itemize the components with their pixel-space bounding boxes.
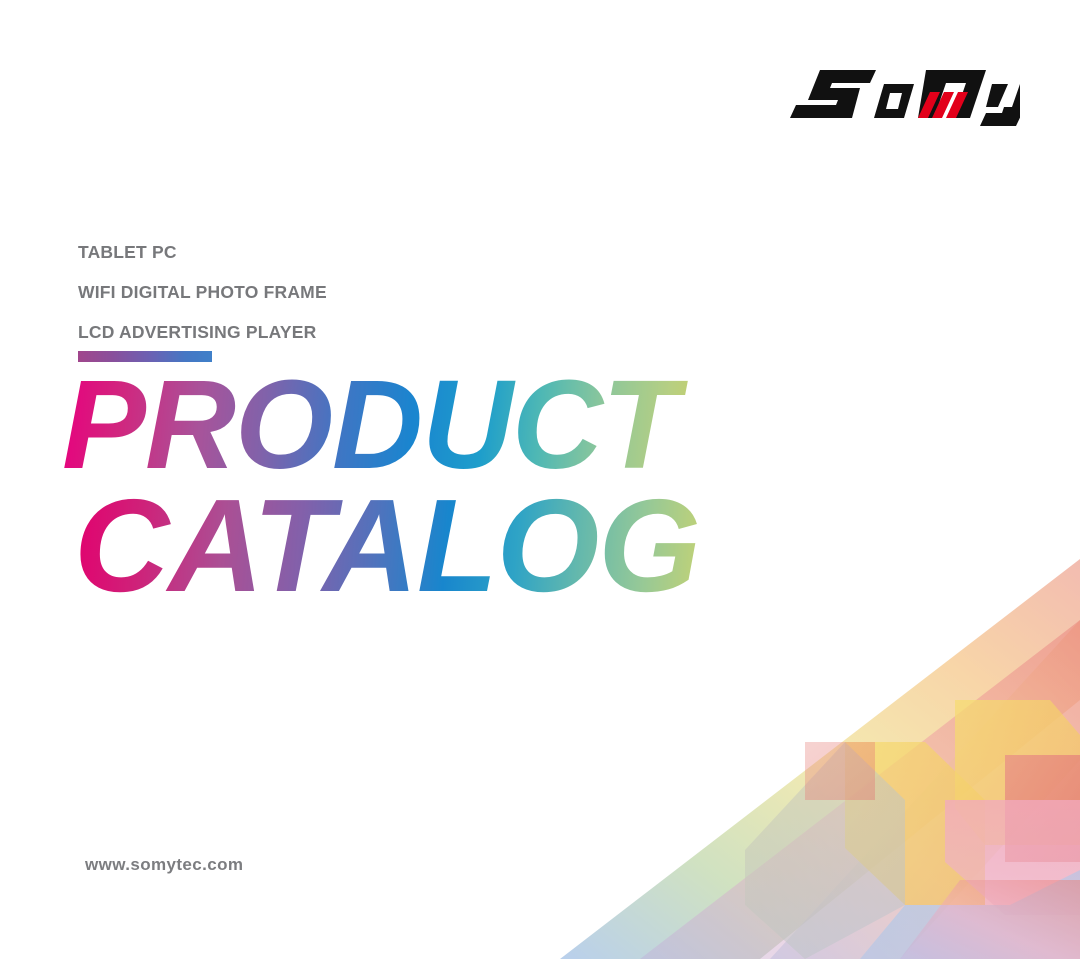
- product-line-item-1: WIFI DIGITAL PHOTO FRAME: [78, 272, 598, 312]
- deco-block-orange: [955, 700, 1080, 845]
- product-line-list: TABLET PC WIFI DIGITAL PHOTO FRAME LCD A…: [78, 232, 598, 352]
- catalog-cover-page: TABLET PC WIFI DIGITAL PHOTO FRAME LCD A…: [0, 0, 1080, 959]
- deco-block-blue: [860, 870, 1080, 959]
- deco-block-gray: [745, 742, 905, 959]
- deco-band-upper: [770, 620, 1080, 959]
- deco-block-lavender: [900, 880, 1080, 959]
- deco-block-yellow: [845, 742, 985, 905]
- deco-block-salmon: [805, 742, 875, 800]
- title-line-catalog: CATALOG: [74, 484, 762, 608]
- product-line-item-0: TABLET PC: [78, 232, 598, 272]
- somy-logo-wordmark: [790, 70, 1020, 126]
- somy-logo: [780, 62, 1020, 126]
- deco-band-lower: [640, 620, 1080, 959]
- website-url: www.somytec.com: [85, 855, 243, 875]
- deco-block-pink: [945, 800, 1080, 915]
- title-line-product: PRODUCT: [62, 366, 762, 484]
- deco-band-main: [560, 559, 1080, 959]
- catalog-title: PRODUCT CATALOG: [62, 366, 762, 608]
- deco-block-red: [1005, 755, 1080, 862]
- product-line-item-2: LCD ADVERTISING PLAYER: [78, 312, 598, 352]
